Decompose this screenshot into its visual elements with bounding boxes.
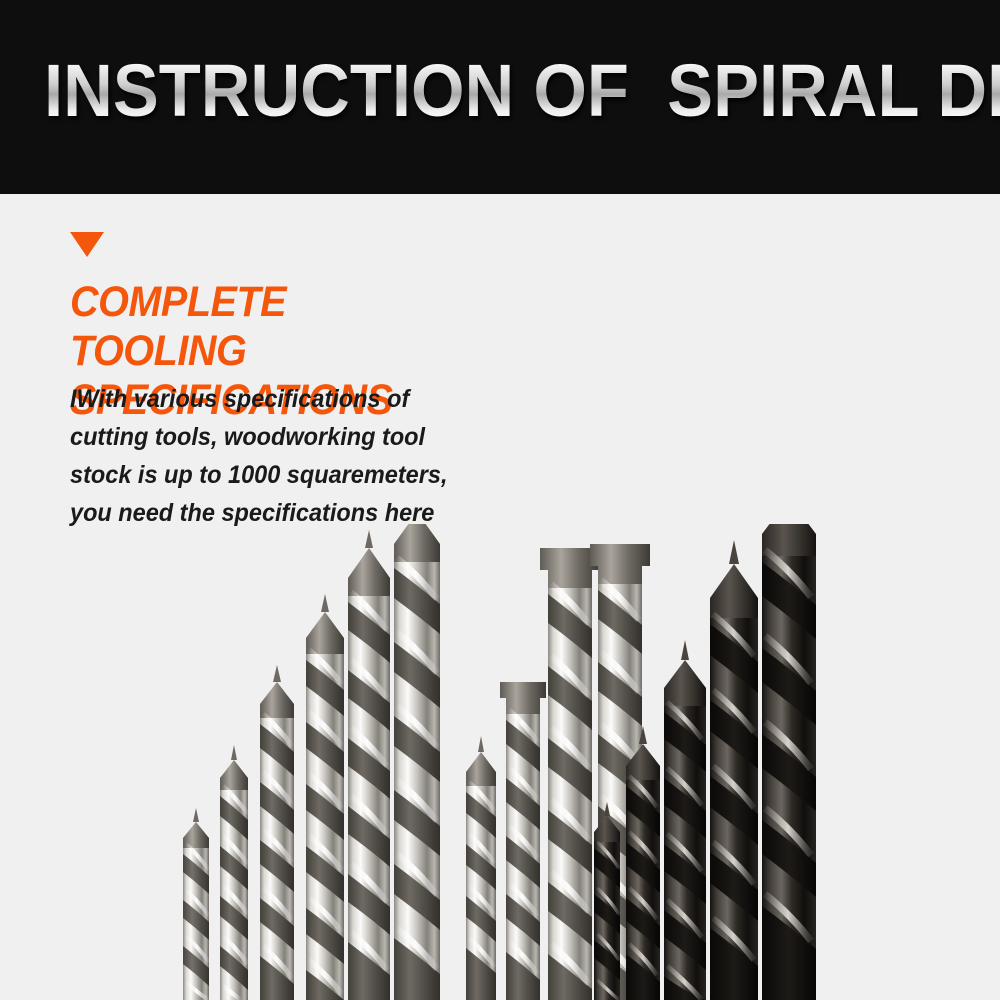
- down-triangle-icon: [70, 232, 104, 257]
- drill-bit: [710, 540, 758, 1000]
- drill-bit: [664, 640, 706, 1000]
- drill-bit: [540, 548, 600, 1000]
- drill-bits-illustration: [0, 524, 1000, 1000]
- header-banner: INSTRUCTION OF SPIRAL DRILL BIT: [0, 0, 1000, 194]
- drill-bit: [220, 745, 248, 1000]
- product-photo-drill-bits: [0, 524, 1000, 1000]
- drill-bit-group-middle: [466, 544, 650, 1000]
- drill-bit: [348, 530, 390, 1000]
- drill-bit-group-left: [183, 524, 440, 1000]
- drill-bit: [260, 665, 294, 1000]
- section-description: IWith various specifications of cutting …: [70, 380, 465, 532]
- drill-bit: [466, 736, 496, 1000]
- drill-bit: [626, 726, 660, 1000]
- product-listing-page: INSTRUCTION OF SPIRAL DRILL BIT COMPLETE…: [0, 0, 1000, 1000]
- drill-bit: [762, 524, 816, 1000]
- drill-bit: [394, 524, 440, 1000]
- drill-bit: [500, 682, 546, 1000]
- drill-bit: [594, 802, 620, 1000]
- page-title: INSTRUCTION OF SPIRAL DRILL BIT: [44, 50, 1000, 132]
- content-area: COMPLETE TOOLING SPECIFICATIONS IWith va…: [0, 194, 1000, 1000]
- drill-bit: [306, 594, 344, 1000]
- drill-bit: [183, 808, 209, 1000]
